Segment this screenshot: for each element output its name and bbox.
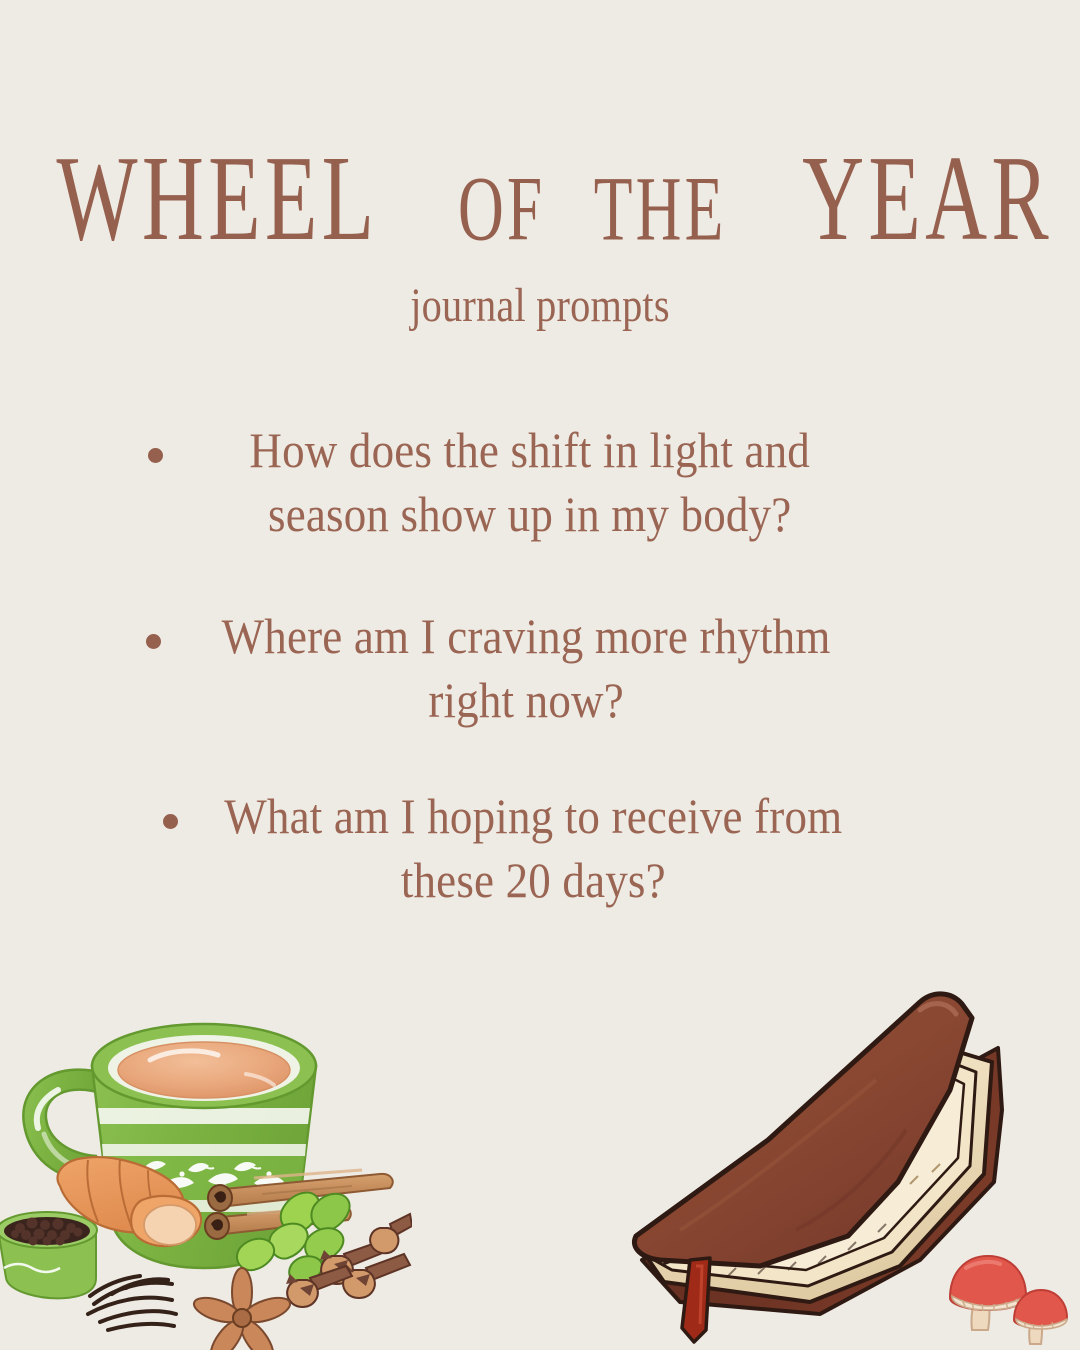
title-word-of: OF xyxy=(458,168,545,253)
title-word-wheel: WHEEL xyxy=(57,144,379,256)
prompt-text: What am I hoping to receive from these 2… xyxy=(50,784,950,912)
page-subtitle: journal prompts xyxy=(86,278,993,333)
prompt-text: How does the shift in light and season s… xyxy=(50,418,950,546)
cup-rim-and-tea xyxy=(92,1024,316,1108)
poster-canvas: WHEEL OF THE YEAR journal prompts How do… xyxy=(0,0,1080,1350)
mushroom-small xyxy=(1014,1290,1067,1344)
list-item: What am I hoping to receive from these 2… xyxy=(0,784,1080,912)
title-word-year: YEAR xyxy=(802,144,1053,256)
journal-prompt-list: How does the shift in light and season s… xyxy=(0,418,1080,972)
peppercorn-bowl xyxy=(0,1212,97,1298)
tea-leaves xyxy=(88,1276,176,1330)
list-item: How does the shift in light and season s… xyxy=(0,418,1080,546)
header: WHEEL OF THE YEAR journal prompts xyxy=(0,0,1080,333)
journal-book-illustration xyxy=(620,930,1080,1350)
prompt-text: Where am I craving more rhythm right now… xyxy=(50,604,950,732)
chai-cup-illustration xyxy=(0,978,412,1350)
star-anise xyxy=(191,1268,293,1350)
title-word-the: THE xyxy=(594,168,727,253)
page-title: WHEEL OF THE YEAR xyxy=(0,149,1080,256)
list-item: Where am I craving more rhythm right now… xyxy=(0,604,1080,732)
